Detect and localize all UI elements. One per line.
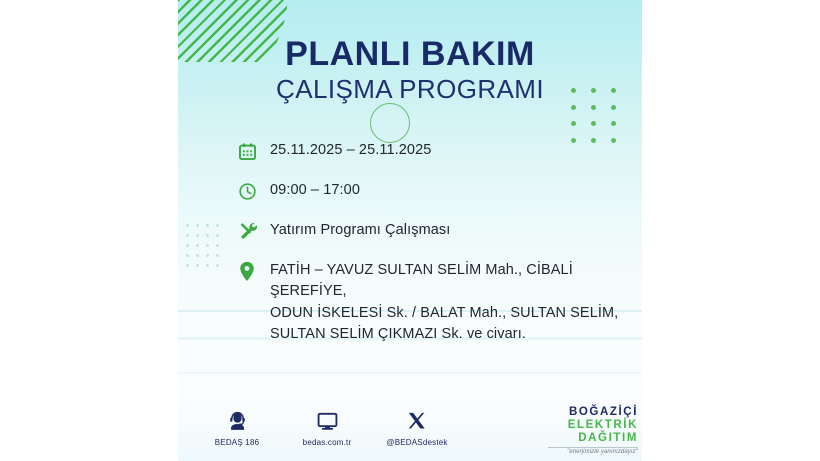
address-line-3: SULTAN SELİM ÇIKMAZI Sk. ve civarı. bbox=[270, 324, 628, 345]
detail-row-date: 25.11.2025 – 25.11.2025 bbox=[238, 138, 628, 164]
call-center-agent-icon bbox=[202, 408, 272, 434]
planned-maintenance-poster: PLANLI BAKIM ÇALIŞMA PROGRAMI bbox=[178, 0, 642, 461]
contact-website[interactable]: bedas.com.tr bbox=[292, 408, 362, 447]
time-range-text: 09:00 – 17:00 bbox=[270, 178, 360, 201]
contact-website-label: bedas.com.tr bbox=[292, 438, 362, 447]
logo-line-2: ELEKTRİK bbox=[548, 419, 638, 432]
tools-icon bbox=[238, 218, 270, 244]
logo-tagline: "enerjimizle yanınızdayız" bbox=[548, 447, 638, 455]
bedas-logo: BOĞAZİÇİ ELEKTRİK DAĞITIM "enerjimizle y… bbox=[548, 406, 638, 455]
address-line-2: ODUN İSKELESİ Sk. / BALAT Mah., SULTAN S… bbox=[270, 303, 628, 324]
contact-phone[interactable]: BEDAŞ 186 bbox=[202, 408, 272, 447]
detail-row-address: FATİH – YAVUZ SULTAN SELİM Mah., CİBALİ … bbox=[238, 258, 628, 346]
logo-line-3: DAĞITIM bbox=[548, 432, 638, 445]
x-twitter-icon bbox=[382, 408, 452, 434]
address-line-1: FATİH – YAVUZ SULTAN SELİM Mah., CİBALİ … bbox=[270, 260, 628, 303]
clock-icon bbox=[238, 178, 270, 204]
poster-title-block: PLANLI BAKIM ÇALIŞMA PROGRAMI bbox=[178, 36, 642, 104]
contact-social-label: @BEDASdestek bbox=[382, 438, 452, 447]
circle-outline-decoration bbox=[370, 103, 410, 143]
page-root: PLANLI BAKIM ÇALIŞMA PROGRAMI bbox=[0, 0, 820, 461]
work-type-text: Yatırım Programı Çalışması bbox=[270, 218, 450, 241]
contact-social[interactable]: @BEDASdestek bbox=[382, 408, 452, 447]
detail-row-time: 09:00 – 17:00 bbox=[238, 178, 628, 204]
page-title: PLANLI BAKIM bbox=[178, 36, 642, 73]
date-range-text: 25.11.2025 – 25.11.2025 bbox=[270, 138, 431, 161]
calendar-icon bbox=[238, 138, 270, 164]
background-band bbox=[178, 372, 642, 374]
maintenance-details: 25.11.2025 – 25.11.2025 09:00 – 17:00 bbox=[238, 138, 628, 360]
page-subtitle: ÇALIŞMA PROGRAMI bbox=[178, 75, 642, 104]
contact-phone-label: BEDAŞ 186 bbox=[202, 438, 272, 447]
detail-row-worktype: Yatırım Programı Çalışması bbox=[238, 218, 628, 244]
location-pin-icon bbox=[238, 258, 270, 284]
logo-line-1: BOĞAZİÇİ bbox=[548, 406, 638, 419]
monitor-icon bbox=[292, 408, 362, 434]
footer-contacts: BEDAŞ 186 bedas.com.tr bbox=[202, 408, 452, 447]
address-text: FATİH – YAVUZ SULTAN SELİM Mah., CİBALİ … bbox=[270, 258, 628, 346]
dot-grid-left-decoration bbox=[186, 224, 226, 274]
